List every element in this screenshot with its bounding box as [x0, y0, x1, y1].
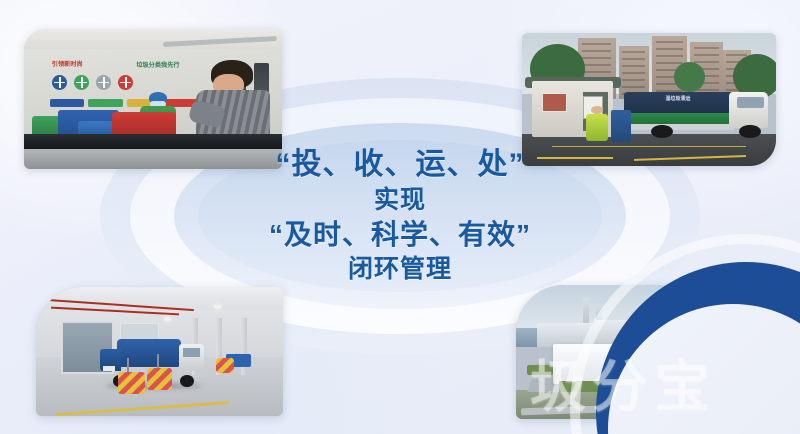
recyclable-icon: [52, 75, 67, 90]
headline-line-1: “投、收、运、处”: [190, 145, 610, 184]
sanitation-worker: [586, 106, 609, 141]
headline-line-3: “及时、科学、有效”: [190, 216, 610, 252]
safety-barrel: [118, 372, 145, 394]
sorting-wall-banner: 引领新时尚 垃圾分类我先行: [42, 57, 205, 70]
banner-text-green: 垃圾分类我先行: [136, 60, 179, 69]
ceiling-lamp: [214, 305, 221, 309]
truck-wheel: [180, 375, 193, 387]
residual-waste-icon: [96, 75, 111, 90]
truck-wheel: [739, 125, 761, 138]
truck-cab-window: [183, 348, 200, 357]
garbage-house-window: [542, 93, 567, 112]
collection-truck: 湿垃圾清运: [624, 92, 769, 136]
banner-text-red: 引领新时尚: [52, 59, 83, 68]
slide-headline: “投、收、运、处” 实现 “及时、科学、有效” 闭环管理: [190, 145, 610, 285]
truck-skirt: [626, 124, 733, 130]
truck-cab-window: [737, 97, 765, 108]
ceiling-lamp: [164, 317, 171, 321]
presentation-slide: 引领新时尚 垃圾分类我先行: [0, 0, 800, 434]
wheeled-bin: [611, 110, 631, 142]
headline-line-2: 实现: [190, 184, 610, 217]
kitchen-waste-icon: [74, 75, 89, 90]
tag-recyclable: [50, 99, 84, 107]
bin-category-icons: [52, 75, 191, 93]
lawn-area: [527, 365, 554, 374]
truck-wheel: [651, 125, 673, 138]
truck-body-text: 湿垃圾清运: [665, 95, 690, 102]
worker-hivis-vest: [586, 114, 609, 141]
tag-kitchen: [88, 99, 122, 107]
safety-barrel: [147, 368, 172, 390]
tree: [674, 62, 704, 91]
hazardous-waste-icon: [118, 75, 133, 90]
headline-line-4: 闭环管理: [190, 253, 610, 286]
safety-barrel: [216, 358, 233, 373]
transfer-depot-photo: [36, 287, 283, 416]
license-plate: [103, 366, 114, 371]
